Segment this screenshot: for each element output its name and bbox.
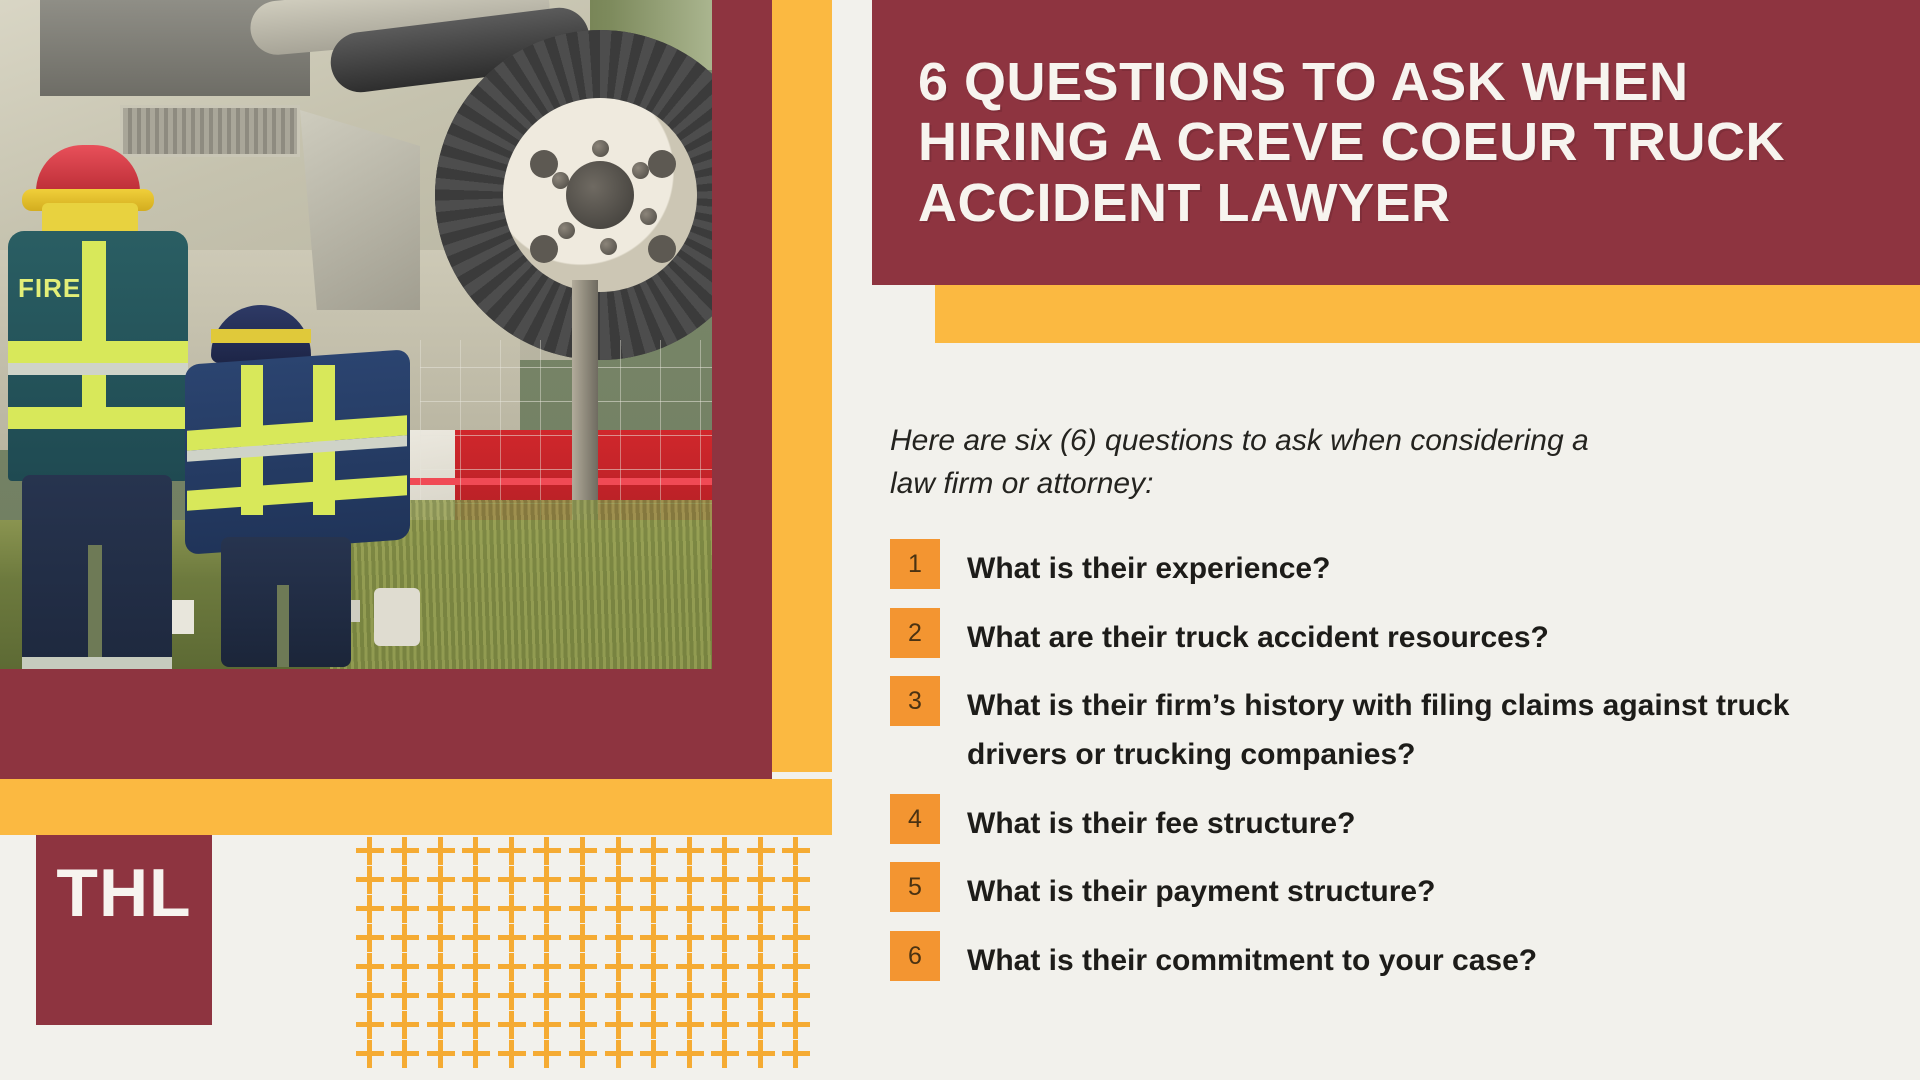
plus-icon [427, 1011, 455, 1039]
plus-icon [711, 866, 739, 894]
plus-icon [533, 866, 561, 894]
plus-icon [711, 953, 739, 981]
plus-icon [427, 953, 455, 981]
photo-lug-nut [552, 172, 569, 189]
question-row: 4What is their fee structure? [890, 794, 1880, 849]
plus-icon [747, 866, 775, 894]
plus-icon [782, 1011, 810, 1039]
plus-icon [605, 895, 633, 923]
plus-icon [640, 895, 668, 923]
plus-icon [427, 895, 455, 923]
photo-hi-vis-stripe [8, 407, 188, 429]
plus-icon [462, 924, 490, 952]
plus-icon [462, 866, 490, 894]
photo-lug-nut [592, 140, 609, 157]
plus-icon [711, 982, 739, 1010]
plus-icon [569, 1040, 597, 1068]
plus-icon [533, 837, 561, 865]
plus-icon [391, 837, 419, 865]
photo-helmet-stripe [211, 329, 311, 343]
plus-icon [747, 837, 775, 865]
plus-icon [747, 924, 775, 952]
photo-lug-nut [558, 222, 575, 239]
plus-icon [605, 982, 633, 1010]
question-number-badge: 5 [890, 862, 940, 912]
question-text: What is their commitment to your case? [967, 931, 1537, 986]
plus-icon [462, 895, 490, 923]
plus-icon [498, 982, 526, 1010]
intro-text: Here are six (6) questions to ask when c… [890, 420, 1630, 505]
plus-pattern-decoration [352, 836, 814, 1068]
yellow-horizontal-band [0, 779, 832, 835]
plus-icon [533, 895, 561, 923]
plus-icon [498, 1040, 526, 1068]
question-row: 5What is their payment structure? [890, 862, 1880, 917]
plus-icon [782, 866, 810, 894]
plus-icon [676, 1011, 704, 1039]
photo-lug-nut [632, 162, 649, 179]
plus-icon [391, 1040, 419, 1068]
plus-icon [391, 895, 419, 923]
plus-icon [747, 895, 775, 923]
plus-icon [782, 982, 810, 1010]
plus-icon [462, 837, 490, 865]
photo-hi-vis-stripe [8, 341, 188, 363]
plus-icon [640, 1040, 668, 1068]
plus-icon [640, 866, 668, 894]
plus-icon [640, 924, 668, 952]
question-text: What is their experience? [967, 539, 1330, 594]
plus-icon [605, 866, 633, 894]
plus-icon [747, 1011, 775, 1039]
question-number-badge: 4 [890, 794, 940, 844]
photo-wheel-hub [566, 161, 634, 229]
plus-icon [605, 1011, 633, 1039]
truck-accident-photo: FIRE [0, 0, 712, 669]
plus-icon [356, 953, 384, 981]
photo-rim-hole [648, 235, 676, 263]
question-text: What is their payment structure? [967, 862, 1435, 917]
plus-icon [605, 924, 633, 952]
photo-rim-hole [648, 150, 676, 178]
plus-icon [533, 1040, 561, 1068]
question-text: What is their fee structure? [967, 794, 1355, 849]
plus-icon [605, 837, 633, 865]
plus-icon [462, 953, 490, 981]
question-number-badge: 3 [890, 676, 940, 726]
plus-icon [427, 837, 455, 865]
plus-icon [533, 953, 561, 981]
plus-icon [640, 1011, 668, 1039]
plus-icon [605, 953, 633, 981]
plus-icon [427, 924, 455, 952]
plus-icon [676, 837, 704, 865]
plus-icon [356, 837, 384, 865]
plus-icon [711, 1040, 739, 1068]
plus-icon [676, 982, 704, 1010]
plus-icon [356, 895, 384, 923]
plus-icon [533, 1011, 561, 1039]
photo-firefighter-bending [185, 305, 410, 665]
yellow-vertical-band [772, 0, 832, 772]
plus-icon [356, 1011, 384, 1039]
thl-logo-text: THL [56, 859, 191, 927]
plus-icon [533, 924, 561, 952]
photo-firefighter-standing: FIRE [8, 145, 188, 645]
plus-icon [676, 895, 704, 923]
plus-icon [533, 982, 561, 1010]
plus-icon [676, 866, 704, 894]
plus-icon [462, 1040, 490, 1068]
plus-icon [569, 895, 597, 923]
plus-icon [747, 1040, 775, 1068]
question-list: 1What is their experience?2What are thei… [890, 539, 1880, 985]
question-row: 6What is their commitment to your case? [890, 931, 1880, 986]
plus-icon [747, 953, 775, 981]
question-row: 3What is their firm’s history with filin… [890, 676, 1880, 779]
plus-icon [747, 982, 775, 1010]
plus-icon [498, 895, 526, 923]
plus-icon [356, 924, 384, 952]
plus-icon [782, 953, 810, 981]
photo-lug-nut [600, 238, 617, 255]
plus-icon [427, 982, 455, 1010]
plus-icon [498, 866, 526, 894]
plus-icon [391, 953, 419, 981]
photo-lug-nut [640, 208, 657, 225]
maroon-vertical-band [712, 0, 772, 669]
plus-icon [676, 924, 704, 952]
thl-logo: THL [36, 835, 212, 1025]
page-title: 6 QUESTIONS TO ASK WHEN HIRING A CREVE C… [872, 52, 1920, 233]
plus-icon [640, 982, 668, 1010]
plus-icon [356, 982, 384, 1010]
photo-coat-vertical-stripe [82, 241, 106, 427]
plus-icon [676, 1040, 704, 1068]
plus-icon [782, 924, 810, 952]
plus-icon [462, 982, 490, 1010]
photo-leg-gap [88, 545, 102, 669]
plus-icon [711, 1011, 739, 1039]
question-row: 1What is their experience? [890, 539, 1880, 594]
photo-rim-hole [530, 235, 558, 263]
plus-icon [569, 982, 597, 1010]
question-number-badge: 6 [890, 931, 940, 981]
plus-icon [676, 953, 704, 981]
plus-icon [356, 866, 384, 894]
question-number-badge: 2 [890, 608, 940, 658]
photo-trouser-cuff-stripe [22, 657, 172, 669]
plus-icon [498, 924, 526, 952]
plus-icon [462, 1011, 490, 1039]
plus-icon [498, 837, 526, 865]
plus-icon [711, 837, 739, 865]
question-text: What are their truck accident resources? [967, 608, 1549, 663]
accident-photo-panel: FIRE [0, 0, 712, 669]
plus-icon [782, 895, 810, 923]
plus-icon [711, 924, 739, 952]
plus-icon [782, 1040, 810, 1068]
question-row: 2What are their truck accident resources… [890, 608, 1880, 663]
plus-icon [391, 1011, 419, 1039]
plus-icon [427, 1040, 455, 1068]
question-number-badge: 1 [890, 539, 940, 589]
plus-icon [569, 953, 597, 981]
plus-icon [391, 982, 419, 1010]
plus-icon [605, 1040, 633, 1068]
plus-icon [356, 1040, 384, 1068]
plus-icon [640, 953, 668, 981]
plus-icon [498, 953, 526, 981]
header-accent-bar [935, 285, 1920, 343]
plus-icon [498, 1011, 526, 1039]
plus-icon [711, 895, 739, 923]
plus-icon [391, 866, 419, 894]
plus-icon [569, 1011, 597, 1039]
question-text: What is their firm’s history with filing… [967, 676, 1847, 779]
plus-icon [640, 837, 668, 865]
plus-icon [782, 837, 810, 865]
questions-section: Here are six (6) questions to ask when c… [890, 420, 1880, 999]
plus-icon [569, 837, 597, 865]
plus-icon [391, 924, 419, 952]
plus-icon [569, 924, 597, 952]
header-block: 6 QUESTIONS TO ASK WHEN HIRING A CREVE C… [872, 0, 1920, 285]
plus-icon [427, 866, 455, 894]
photo-coat-fire-label: FIRE [18, 273, 81, 304]
plus-icon [569, 866, 597, 894]
photo-reflective-stripe [8, 363, 188, 375]
maroon-horizontal-band [0, 669, 772, 779]
photo-leg-gap [277, 585, 289, 667]
